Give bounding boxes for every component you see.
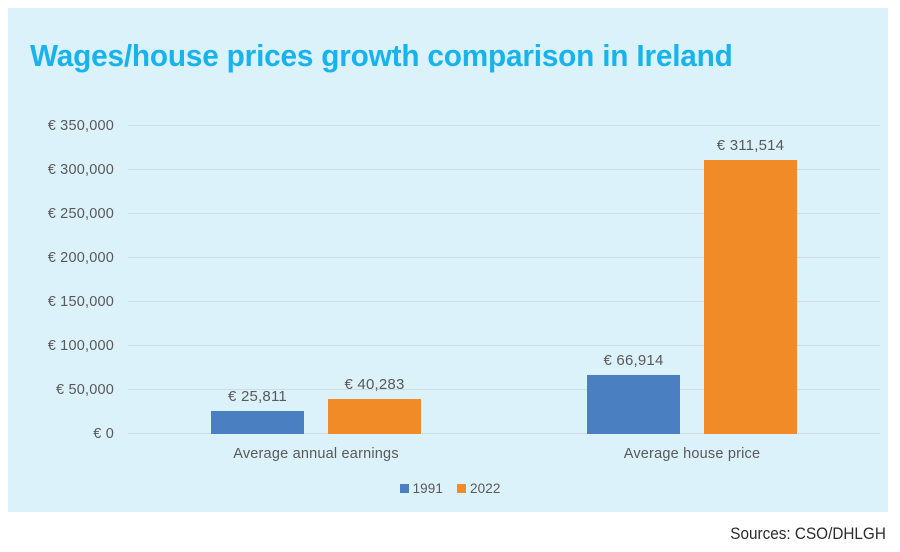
y-axis-tick-label: € 300,000 <box>48 162 114 178</box>
plot-wrapper: € 0€ 50,000€ 100,000€ 150,000€ 200,000€ … <box>0 0 900 552</box>
gridline <box>128 125 880 126</box>
sources-note: Sources: CSO/DHLGH <box>730 524 886 544</box>
legend-item-2022[interactable]: 2022 <box>457 481 500 496</box>
chart-legend: 19912022 <box>0 481 900 496</box>
y-axis-tick-label: € 350,000 <box>48 118 114 134</box>
legend-swatch-icon <box>457 484 466 493</box>
y-axis-tick-label: € 0 <box>93 426 114 442</box>
bar-2022-2[interactable] <box>704 160 797 434</box>
y-axis-tick-label: € 50,000 <box>56 382 114 398</box>
plot-area: € 25,811€ 40,283€ 66,914€ 311,514 <box>128 126 880 434</box>
legend-item-1991[interactable]: 1991 <box>400 481 443 496</box>
legend-swatch-icon <box>400 484 409 493</box>
y-axis-tick-label: € 250,000 <box>48 206 114 222</box>
bar-value-label: € 25,811 <box>191 388 324 405</box>
legend-label: 1991 <box>413 481 443 496</box>
bar-value-label: € 66,914 <box>567 352 700 369</box>
bar-2022-1[interactable] <box>328 399 421 434</box>
bar-1991-1[interactable] <box>211 411 304 434</box>
y-axis-tick-label: € 150,000 <box>48 294 114 310</box>
category-label: Average house price <box>552 446 832 462</box>
chart-figure: Wages/house prices growth comparison in … <box>0 0 900 552</box>
y-axis-tick-label: € 200,000 <box>48 250 114 266</box>
bar-1991-2[interactable] <box>587 375 680 434</box>
bar-value-label: € 40,283 <box>308 376 441 393</box>
legend-label: 2022 <box>470 481 500 496</box>
category-label: Average annual earnings <box>176 446 456 462</box>
bar-value-label: € 311,514 <box>684 137 817 154</box>
y-axis-tick-label: € 100,000 <box>48 338 114 354</box>
